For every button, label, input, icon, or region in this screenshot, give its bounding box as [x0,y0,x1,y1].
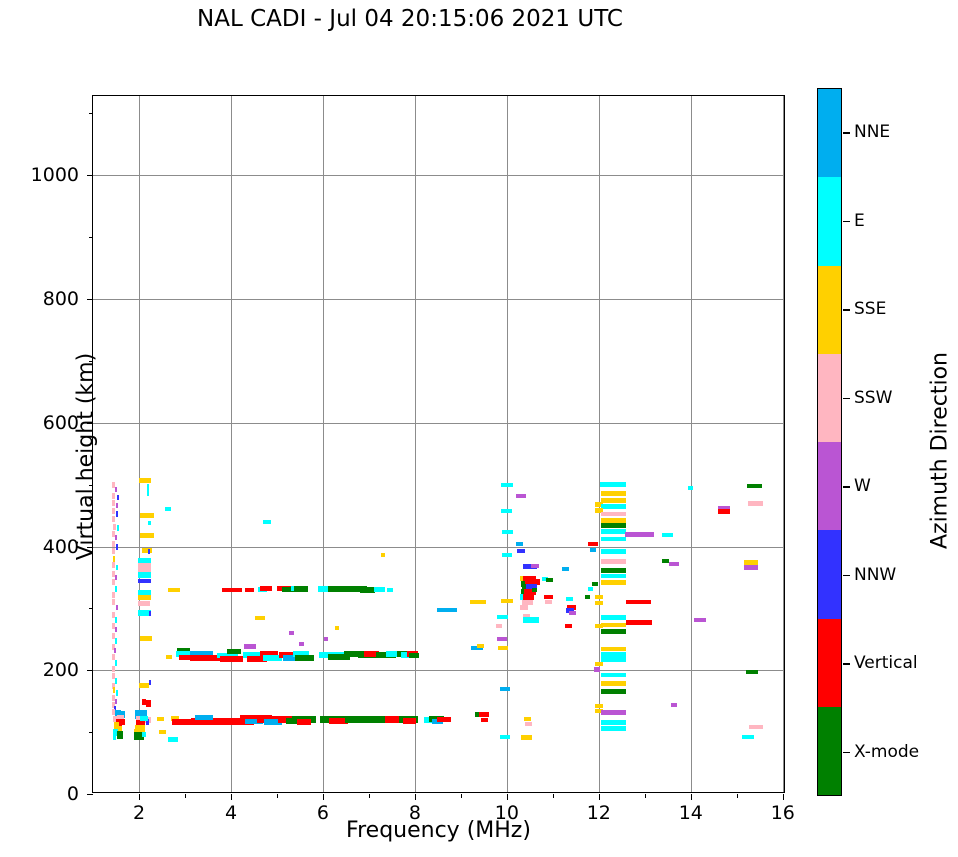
echo-mark [525,722,531,726]
echo-mark [601,623,627,627]
echo-mark [112,541,115,547]
colorbar-segment-nnw[interactable] [818,530,841,618]
colorbar-segment-e[interactable] [818,177,841,265]
echo-mark [115,586,117,592]
echo-mark [112,548,115,554]
x-tick [507,794,508,800]
echo-mark [245,588,254,592]
echo-mark [335,626,339,630]
echo-mark [116,690,118,696]
echo-mark [601,681,627,686]
echo-mark [168,588,180,592]
colorbar-tick [843,398,850,399]
echo-mark [601,529,627,534]
echo-mark [115,627,117,632]
echo-mark [112,493,115,499]
colorbar-label-vertical: Vertical [854,653,918,673]
echo-mark [157,717,163,721]
echo-mark [585,595,590,599]
echo-mark [112,579,115,585]
echo-mark [601,615,627,620]
echo-mark [742,735,754,739]
echo-mark [113,556,115,562]
echo-mark [113,524,116,530]
echo-mark [443,717,450,722]
echo-mark [139,683,149,688]
y-tick-label: 0 [67,783,79,805]
echo-mark [625,532,654,537]
echo-mark [601,568,627,573]
y-tick-minor [89,732,93,733]
y-tick-minor [89,237,93,238]
echo-mark [517,549,525,553]
echo-mark [295,655,313,661]
echo-mark [263,520,271,524]
echo-mark [500,687,510,691]
echo-mark [220,656,243,662]
x-tick [323,794,324,800]
echo-mark [601,629,627,634]
y-tick [87,670,93,671]
page-title: NAL CADI - Jul 04 20:15:06 2021 UTC [0,6,820,32]
echo-mark [116,565,118,570]
echo-mark [595,662,602,666]
echo-mark [115,617,117,623]
echo-mark [112,592,115,598]
echo-mark [479,712,489,717]
echo-mark [595,624,602,628]
echo-mark [481,718,488,722]
echo-mark [299,642,304,646]
colorbar-label-x-mode: X-mode [854,742,919,762]
echo-mark [140,533,154,538]
colorbar-segment-nne[interactable] [818,89,841,177]
echo-mark [626,600,652,604]
echo-mark [148,549,150,554]
echo-mark [222,588,242,592]
echo-mark [255,616,265,620]
y-tick-minor [89,113,93,114]
echo-mark [544,595,553,599]
x-tick-minor [553,794,554,798]
colorbar-tick [843,309,850,310]
x-tick-minor [737,794,738,798]
x-tick-minor [185,794,186,798]
echo-mark [516,542,523,546]
echo-mark [138,579,151,583]
echo-mark [244,644,256,649]
echo-mark [115,660,117,666]
x-tick-minor [461,794,462,798]
echo-mark [601,657,627,662]
echo-mark [521,735,532,740]
echo-mark [195,715,213,720]
colorbar-tick [843,575,850,576]
echo-mark [601,647,627,651]
echo-mark [112,666,115,672]
echo-mark [115,535,117,540]
echo-mark [532,588,538,592]
colorbar-segment-x-mode[interactable] [818,707,841,795]
echo-mark [168,737,178,742]
colorbar[interactable] [817,88,842,796]
echo-mark [115,678,117,684]
echo-mark [112,516,115,522]
echo-mark [227,649,241,654]
echo-mark [595,595,602,599]
echo-mark [146,700,151,707]
echo-mark [115,487,117,492]
ionogram-figure: NAL CADI - Jul 04 20:15:06 2021 UTC 2468… [0,0,958,857]
echo-mark [138,601,150,606]
echo-mark [565,624,572,628]
echo-mark [328,586,346,592]
colorbar-label-sse: SSE [854,299,886,319]
echo-mark [531,564,539,568]
echo-mark [159,730,165,734]
echo-mark [601,726,627,731]
y-tick [87,299,93,300]
echo-mark [502,553,512,557]
echo-mark [116,544,118,550]
echo-mark [601,574,627,578]
echo-mark [501,483,513,487]
echo-mark [502,530,513,534]
echo-mark [437,608,457,612]
echo-mark [324,637,329,641]
echo-mark [590,548,596,552]
echo-mark [289,631,295,635]
colorbar-title: Azimuth Direction [928,301,953,601]
echo-mark [749,725,763,729]
echo-mark [746,670,758,674]
echo-mark [149,680,151,685]
echo-mark [112,508,115,514]
echo-mark [562,567,569,571]
x-tick-minor [369,794,370,798]
echo-mark [140,513,154,518]
echo-mark [497,615,508,619]
echo-mark [669,562,679,566]
plot-data-layer [93,96,784,792]
echo-mark [601,689,627,694]
echo-mark [595,601,602,605]
echo-mark [566,597,573,601]
echo-mark [498,646,508,650]
echo-mark [601,537,627,541]
echo-mark [112,500,115,506]
echo-mark [601,512,627,516]
echo-mark [117,731,123,739]
colorbar-label-nnw: NNW [854,565,896,585]
echo-mark [116,605,118,610]
colorbar-segment-w[interactable] [818,442,841,530]
echo-mark [595,704,602,708]
echo-mark [260,586,272,591]
echo-mark [116,503,118,508]
echo-mark [588,587,594,591]
echo-mark [149,611,151,616]
echo-mark [387,588,393,592]
echo-mark [381,553,386,557]
echo-mark [600,482,627,487]
echo-mark [497,637,507,641]
echo-mark [138,595,151,600]
echo-mark [148,521,151,525]
echo-mark [569,611,576,615]
x-tick [599,794,600,800]
echo-mark [748,501,764,506]
echo-mark [138,572,151,578]
x-tick [231,794,232,800]
colorbar-segment-ssw[interactable] [818,354,841,442]
echo-mark [500,735,510,739]
echo-mark [409,653,418,658]
x-tick [139,794,140,800]
echo-mark [297,719,311,725]
echo-mark [688,486,693,490]
colorbar-tick [843,486,850,487]
echo-mark [477,644,483,648]
colorbar-tick [843,221,850,222]
echo-mark [601,549,627,554]
echo-mark [142,732,147,737]
x-tick [783,794,784,800]
colorbar-label-w: W [854,476,871,496]
y-axis-title: Virtual height (km) [74,307,99,607]
echo-mark [122,719,126,725]
echo-mark [588,542,598,546]
echo-mark [114,648,116,653]
echo-mark [601,580,627,585]
echo-mark [545,600,552,604]
echo-mark [470,600,486,604]
echo-mark [496,624,502,628]
echo-mark [524,717,530,721]
echo-mark [601,498,627,503]
colorbar-label-nne: NNE [854,122,890,142]
echo-mark [671,703,677,707]
echo-mark [718,509,730,514]
echo-mark [694,618,706,622]
echo-mark [546,578,552,582]
plot-area: 24681012141602004006008001000 [92,95,785,793]
x-tick-minor [277,794,278,798]
colorbar-segment-vertical[interactable] [818,619,841,707]
echo-mark [117,525,119,531]
echo-mark [501,509,512,513]
echo-mark [116,511,118,517]
y-tick [87,794,93,795]
echo-mark [516,494,526,498]
echo-mark [744,565,758,570]
echo-mark [523,617,539,623]
echo-mark [403,718,416,724]
colorbar-tick [843,132,850,133]
echo-mark [165,507,171,511]
echo-mark [140,716,148,721]
echo-mark [601,523,627,528]
echo-mark [601,710,627,715]
y-tick-minor [89,608,93,609]
echo-mark [601,720,627,725]
echo-mark [601,504,627,509]
echo-mark [601,673,627,677]
echo-mark [626,620,652,625]
echo-mark [113,734,116,740]
colorbar-tick [843,752,850,753]
y-tick-label: 200 [43,659,79,681]
echo-mark [601,559,627,564]
echo-mark [147,484,149,496]
x-tick [415,794,416,800]
colorbar-tick [843,663,850,664]
echo-mark [115,638,117,644]
x-tick-minor [645,794,646,798]
y-tick [87,175,93,176]
echo-mark [166,655,172,659]
colorbar-segment-sse[interactable] [818,266,841,354]
echo-mark [662,533,673,537]
echo-mark [112,654,115,660]
echo-mark [294,586,308,592]
echo-mark [594,667,600,672]
echo-mark [140,636,152,641]
x-axis-title: Frequency (MHz) [92,818,785,843]
colorbar-label-e: E [854,211,865,231]
y-tick-label: 1000 [31,164,79,186]
echo-mark [592,582,598,586]
echo-mark [601,491,627,496]
echo-mark [747,484,763,488]
x-tick [691,794,692,800]
echo-mark [374,587,385,592]
echo-mark [117,495,119,500]
colorbar-label-ssw: SSW [854,388,892,408]
echo-mark [501,599,513,603]
echo-mark [520,605,528,610]
